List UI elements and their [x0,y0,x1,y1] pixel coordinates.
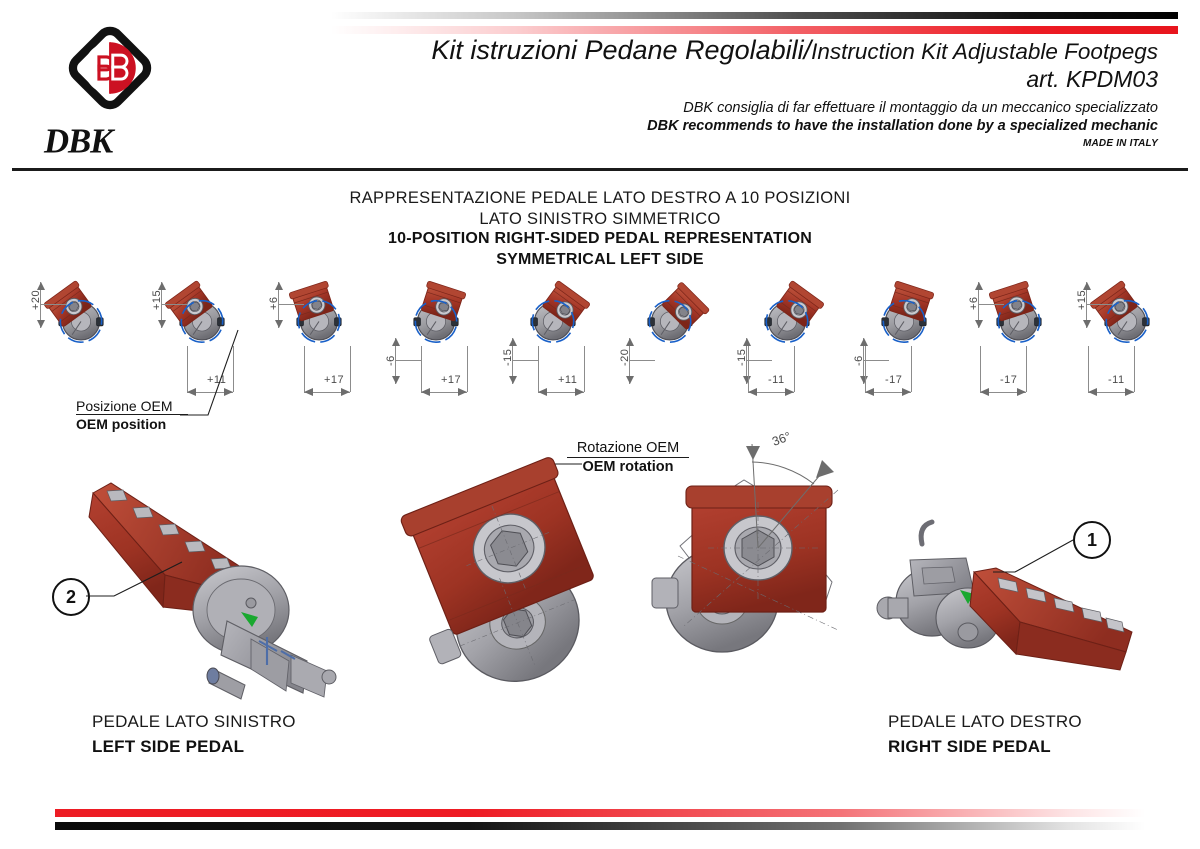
horizontal-dim-ext-a-10 [1088,346,1089,392]
horizontal-dim-ext-b-5 [584,346,585,392]
horizontal-dim-arrow-right-7 [785,388,794,396]
vertical-dim-arrow-top-1 [37,282,45,290]
horizontal-dimension-3: +17 [324,374,344,386]
caption-left-pedal: PEDALE LATO SINISTRO LEFT SIDE PEDAL [92,712,296,757]
horizontal-dim-ext-b-7 [794,346,795,392]
rotation-angle-label: 36° [770,429,793,449]
horizontal-dim-arrow-left-10 [1088,388,1097,396]
vertical-dim-ext-10 [1086,304,1112,305]
dbk-wordmark: DBK [44,118,202,166]
pedal-unit-icon [44,280,118,354]
vertical-dim-ext-4 [395,360,421,361]
bottom-black-stripe [55,822,1145,830]
bottom-red-stripe [55,809,1145,817]
vertical-dim-arrow-bottom-2 [158,320,166,328]
horizontal-dimension-8: -17 [885,374,902,386]
pedal-position-7: -15-11 [730,262,850,422]
horizontal-dimension-7: -11 [768,374,785,386]
horizontal-dim-ext-b-4 [467,346,468,392]
horizontal-dim-ext-a-5 [538,346,539,392]
vertical-dim-arrow-top-10 [1083,282,1091,290]
caption-left-en: LEFT SIDE PEDAL [92,737,296,757]
pedal-unit-icon [516,280,590,354]
oem-position-leader-line [180,330,300,422]
vertical-dim-arrow-bottom-8 [860,376,868,384]
caption-right-pedal: PEDALE LATO DESTRO RIGHT SIDE PEDAL [888,712,1082,757]
vertical-dim-arrow-top-4 [392,338,400,346]
horizontal-dim-arrow-right-5 [575,388,584,396]
horizontal-dim-arrow-left-3 [304,388,313,396]
horizontal-dim-ext-b-8 [911,346,912,392]
vertical-dim-arrow-top-5 [509,338,517,346]
vertical-dim-arrow-bottom-1 [37,320,45,328]
vertical-dim-arrow-top-7 [743,338,751,346]
caption-left-it: PEDALE LATO SINISTRO [92,712,296,732]
horizontal-dim-arrow-right-3 [341,388,350,396]
vertical-dim-arrow-top-3 [275,282,283,290]
oem-position-underline [76,414,188,415]
vertical-dim-arrow-top-2 [158,282,166,290]
horizontal-dim-ext-a-8 [865,346,866,392]
horizontal-dim-arrow-right-4 [458,388,467,396]
top-black-stripe [330,12,1178,19]
vertical-dim-arrow-bottom-9 [975,320,983,328]
horizontal-dim-arrow-right-8 [902,388,911,396]
vertical-dim-arrow-bottom-5 [509,376,517,384]
horizontal-dim-ext-a-4 [421,346,422,392]
brand-logo: DBK [42,22,202,167]
callout-1-leader-line [993,538,1083,576]
section-title-line2: LATO SINISTRO SIMMETRICO [0,209,1200,230]
pedal-unit-icon [750,280,824,354]
pedal-position-4: -6+17 [379,262,499,422]
kit-title: Kit istruzioni Pedane Regolabili/Instruc… [300,36,1158,64]
vertical-dim-arrow-bottom-10 [1083,320,1091,328]
horizontal-dim-ext-a-9 [980,346,981,392]
vertical-dim-arrow-bottom-7 [743,376,751,384]
horizontal-dim-ext-a-3 [304,346,305,392]
horizontal-dimension-4: +17 [441,374,461,386]
vertical-dim-ext-2 [161,304,187,305]
vertical-dim-ext-8 [863,360,889,361]
vertical-dim-ext-1 [40,304,66,305]
horizontal-dim-ext-b-10 [1134,346,1135,392]
horizontal-dim-arrow-left-8 [865,388,874,396]
advice-en: DBK recommends to have the installation … [300,118,1158,134]
caption-right-it: PEDALE LATO DESTRO [888,712,1082,732]
horizontal-dim-arrow-left-7 [748,388,757,396]
section-title-line1: RAPPRESENTAZIONE PEDALE LATO DESTRO A 10… [0,188,1200,209]
vertical-dim-ext-5 [512,360,538,361]
horizontal-dim-ext-b-3 [350,346,351,392]
oem-rotation-pedal-drawing [410,470,630,670]
header-divider [12,168,1188,171]
vertical-dim-arrow-top-9 [975,282,983,290]
kit-title-en: Instruction Kit Adjustable Footpegs [811,39,1158,64]
pedal-position-9: +6-17 [962,262,1082,422]
dbk-diamond-icon [64,22,156,114]
horizontal-dimension-5: +11 [558,374,577,386]
made-in-italy: MADE IN ITALY [300,138,1158,149]
svg-text:DBK: DBK [43,122,116,161]
vertical-dim-arrow-top-8 [860,338,868,346]
vertical-dim-ext-9 [978,304,1004,305]
horizontal-dimension-10: -11 [1108,374,1125,386]
advice-it: DBK consiglia di far effettuare il monta… [300,100,1158,116]
vertical-dim-arrow-bottom-6 [626,376,634,384]
pedal-position-10: +15-11 [1070,262,1190,422]
pedal-unit-icon [633,280,707,354]
horizontal-dim-ext-a-7 [748,346,749,392]
horizontal-dim-arrow-right-9 [1017,388,1026,396]
caption-right-en: RIGHT SIDE PEDAL [888,737,1082,757]
horizontal-dim-arrow-left-5 [538,388,547,396]
article-number: art. KPDM03 [300,66,1158,93]
pedal-unit-icon [982,280,1056,354]
horizontal-dim-arrow-left-4 [421,388,430,396]
section-title-line3: 10-POSITION RIGHT-SIDED PEDAL REPRESENTA… [0,229,1200,250]
header-titles: Kit istruzioni Pedane Regolabili/Instruc… [300,36,1158,149]
vertical-dim-ext-6 [629,360,655,361]
horizontal-dim-arrow-right-10 [1125,388,1134,396]
callout-2-leader-line [86,560,196,602]
pedal-position-5: -15+11 [496,262,616,422]
horizontal-dim-ext-b-9 [1026,346,1027,392]
pedal-unit-icon [867,280,941,354]
horizontal-dimension-9: -17 [1000,374,1017,386]
pedal-position-8: -6-17 [847,262,967,422]
kit-title-it: Kit istruzioni Pedane Regolabili/ [431,35,811,65]
pedal-position-6: -20 [613,262,733,422]
vertical-dim-ext-3 [278,304,304,305]
horizontal-dim-arrow-left-9 [980,388,989,396]
vertical-dim-arrow-top-6 [626,338,634,346]
callout-left-pedal: 2 [52,578,90,616]
section-title: RAPPRESENTAZIONE PEDALE LATO DESTRO A 10… [0,188,1200,271]
pedal-unit-icon [1090,280,1164,354]
vertical-dim-ext-7 [746,360,772,361]
rotation-angle-drawing [638,450,878,670]
instruction-sheet-page: DBK Kit istruzioni Pedane Regolabili/Ins… [0,0,1200,849]
pedal-unit-icon [399,280,473,354]
vertical-dim-arrow-bottom-3 [275,320,283,328]
top-red-stripe [330,26,1178,34]
vertical-dim-arrow-bottom-4 [392,376,400,384]
